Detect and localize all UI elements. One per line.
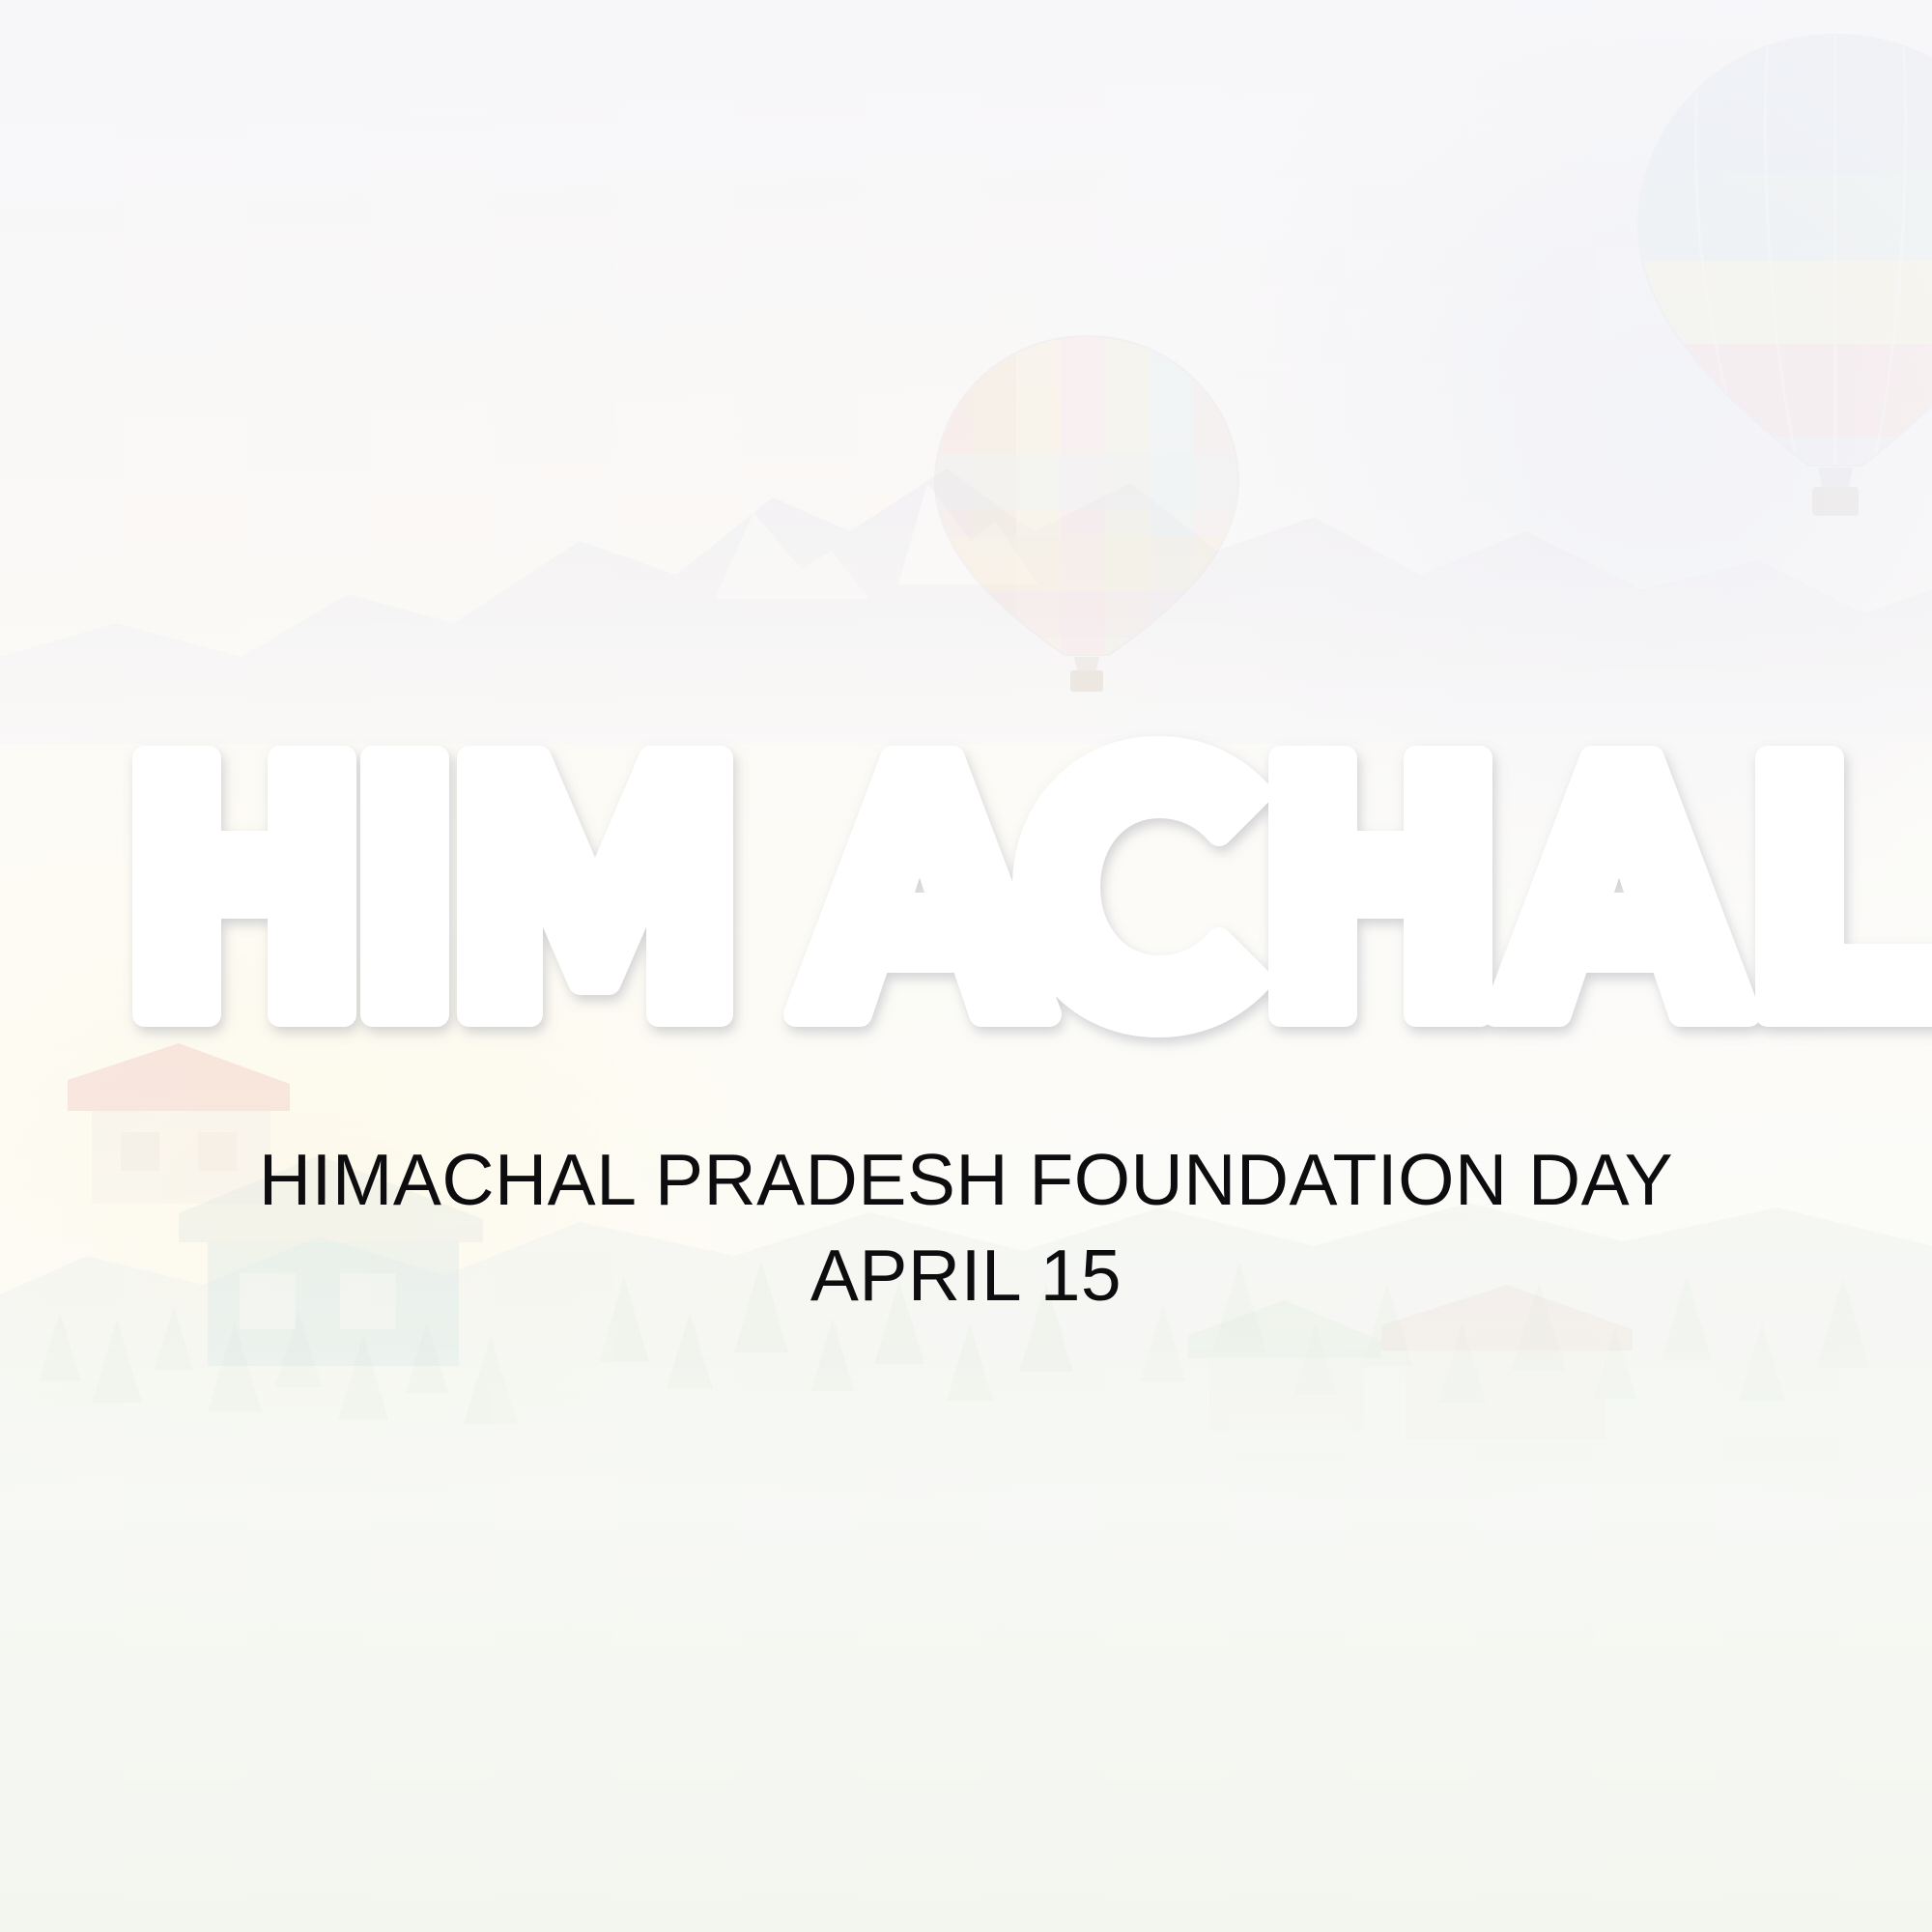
poster-canvas: HIMACHAL PRADESH FOUNDATION DAY APRIL 15 [0, 0, 1932, 1932]
wordmark-himachal [135, 749, 1806, 1024]
hot-air-balloon-icon-top-right [1633, 29, 1932, 531]
subtitle-block: HIMACHAL PRADESH FOUNDATION DAY APRIL 15 [0, 1135, 1932, 1321]
subtitle-occasion: HIMACHAL PRADESH FOUNDATION DAY [0, 1135, 1932, 1225]
subtitle-date: APRIL 15 [0, 1231, 1932, 1321]
hot-air-balloon-icon-center-sky [927, 328, 1246, 696]
